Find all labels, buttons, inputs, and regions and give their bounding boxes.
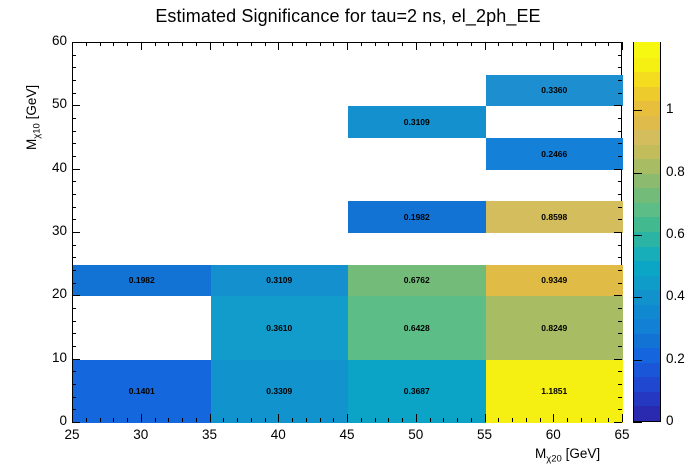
y-tick-minor xyxy=(72,219,76,220)
y-tick-minor xyxy=(72,270,76,271)
heatmap-cell: 0.3360 xyxy=(486,75,624,107)
x-tick-minor xyxy=(498,418,499,422)
x-tick-label: 25 xyxy=(52,428,92,442)
x-tick-minor xyxy=(581,42,582,46)
y-tick-minor xyxy=(618,93,622,94)
x-tick-minor xyxy=(388,418,389,422)
y-tick-minor xyxy=(72,245,76,246)
x-tick-major xyxy=(553,414,554,422)
y-tick-minor xyxy=(72,397,76,398)
colorbar-segment xyxy=(634,391,660,406)
heatmap-cell: 0.9349 xyxy=(486,265,624,297)
x-tick-minor xyxy=(333,42,334,46)
y-tick-minor xyxy=(72,321,76,322)
y-tick-minor xyxy=(618,219,622,220)
y-tick-minor xyxy=(72,409,76,410)
y-tick-minor xyxy=(618,409,622,410)
heatmap-cell: 0.3309 xyxy=(211,360,349,423)
y-tick-minor xyxy=(72,346,76,347)
y-tick-minor xyxy=(618,384,622,385)
y-tick-minor xyxy=(618,321,622,322)
y-tick-major xyxy=(614,359,622,360)
y-tick-minor xyxy=(72,207,76,208)
colorbar-tick-label: 0.4 xyxy=(666,289,685,303)
colorbar-tick xyxy=(633,110,642,111)
y-tick-minor xyxy=(618,333,622,334)
y-tick-major xyxy=(614,42,622,43)
colorbar-segment xyxy=(634,275,660,290)
y-tick-minor xyxy=(72,143,76,144)
x-tick-minor xyxy=(498,42,499,46)
x-tick-minor xyxy=(196,418,197,422)
colorbar-segment xyxy=(634,246,660,261)
x-tick-minor xyxy=(100,42,101,46)
colorbar-tick xyxy=(633,235,642,236)
y-tick-minor xyxy=(72,93,76,94)
y-tick-major xyxy=(72,42,80,43)
y-tick-major xyxy=(614,295,622,296)
x-tick-minor xyxy=(265,42,266,46)
x-tick-minor xyxy=(402,42,403,46)
x-tick-minor xyxy=(388,42,389,46)
heatmap-cell: 0.6762 xyxy=(348,265,486,297)
heatmap-cell: 0.6428 xyxy=(348,296,486,359)
x-tick-minor xyxy=(540,42,541,46)
heatmap-cell: 0.1982 xyxy=(348,201,486,233)
x-tick-minor xyxy=(251,42,252,46)
x-tick-major xyxy=(210,414,211,422)
x-tick-major xyxy=(416,42,417,50)
x-tick-label: 30 xyxy=(121,428,161,442)
x-tick-minor xyxy=(608,418,609,422)
y-tick-minor xyxy=(72,156,76,157)
x-tick-minor xyxy=(86,42,87,46)
y-tick-minor xyxy=(72,384,76,385)
x-tick-major xyxy=(347,42,348,50)
y-tick-minor xyxy=(72,131,76,132)
colorbar-tick-label: 0.2 xyxy=(666,352,685,366)
cell-value-label: 0.9349 xyxy=(541,275,567,285)
x-tick-major xyxy=(72,42,73,50)
x-tick-minor xyxy=(526,418,527,422)
colorbar-segment xyxy=(634,86,660,101)
y-tick-minor xyxy=(618,270,622,271)
x-tick-minor xyxy=(595,42,596,46)
y-tick-minor xyxy=(618,346,622,347)
x-tick-major xyxy=(210,42,211,50)
x-tick-minor xyxy=(113,418,114,422)
y-tick-minor xyxy=(72,118,76,119)
x-tick-minor xyxy=(567,418,568,422)
cell-value-label: 0.8249 xyxy=(541,323,567,333)
x-tick-minor xyxy=(540,418,541,422)
x-tick-minor xyxy=(251,418,252,422)
x-tick-label: 35 xyxy=(190,428,230,442)
x-tick-minor xyxy=(512,418,513,422)
colorbar-segment xyxy=(634,57,660,72)
colorbar-tick xyxy=(633,422,642,423)
y-tick-label: 40 xyxy=(52,161,67,175)
y-tick-minor xyxy=(72,181,76,182)
y-tick-minor xyxy=(618,156,622,157)
x-tick-major xyxy=(278,42,279,50)
y-tick-label: 20 xyxy=(52,287,67,301)
x-tick-minor xyxy=(375,42,376,46)
y-tick-major xyxy=(614,169,622,170)
y-tick-minor xyxy=(72,283,76,284)
x-tick-major xyxy=(485,414,486,422)
y-tick-minor xyxy=(618,245,622,246)
x-tick-minor xyxy=(430,42,431,46)
x-tick-minor xyxy=(375,418,376,422)
y-tick-major xyxy=(614,232,622,233)
x-tick-minor xyxy=(320,418,321,422)
x-tick-minor xyxy=(127,418,128,422)
colorbar-segment xyxy=(634,101,660,116)
x-tick-minor xyxy=(567,42,568,46)
cell-value-label: 0.6428 xyxy=(404,323,430,333)
y-tick-minor xyxy=(618,55,622,56)
y-tick-minor xyxy=(72,194,76,195)
y-tick-minor xyxy=(618,80,622,81)
heatmap-cell: 1.1851 xyxy=(486,360,624,423)
heatmap-cell: 0.3109 xyxy=(348,106,486,138)
x-tick-minor xyxy=(155,418,156,422)
x-tick-minor xyxy=(471,418,472,422)
colorbar-tick-label: 0.6 xyxy=(666,227,685,241)
colorbar-segment xyxy=(634,173,660,188)
x-tick-minor xyxy=(526,42,527,46)
chart-title: Estimated Significance for tau=2 ns, el_… xyxy=(0,6,696,27)
x-tick-major xyxy=(278,414,279,422)
cell-value-label: 0.1401 xyxy=(129,386,155,396)
plot-frame: 0.33600.31090.24660.19820.85980.19820.31… xyxy=(72,42,622,422)
x-tick-minor xyxy=(182,42,183,46)
colorbar-segment xyxy=(634,188,660,203)
heatmap-cell: 0.1982 xyxy=(73,265,211,297)
colorbar-segment xyxy=(634,377,660,392)
x-tick-major xyxy=(347,414,348,422)
x-tick-label: 45 xyxy=(327,428,367,442)
y-tick-minor xyxy=(618,371,622,372)
x-tick-minor xyxy=(457,42,458,46)
y-tick-minor xyxy=(618,131,622,132)
cell-value-label: 0.2466 xyxy=(541,149,567,159)
x-tick-minor xyxy=(471,42,472,46)
cell-value-label: 1.1851 xyxy=(541,386,567,396)
colorbar-segment xyxy=(634,406,660,421)
x-tick-minor xyxy=(168,42,169,46)
heatmap-cell: 0.3687 xyxy=(348,360,486,423)
colorbar-segment xyxy=(634,72,660,87)
x-tick-minor xyxy=(443,418,444,422)
heatmap-cell: 0.8598 xyxy=(486,201,624,233)
x-tick-minor xyxy=(292,42,293,46)
y-tick-major xyxy=(72,105,80,106)
heatmap-cell: 0.2466 xyxy=(486,138,624,170)
colorbar-segment xyxy=(634,319,660,334)
y-tick-label: 60 xyxy=(52,34,67,48)
x-tick-major xyxy=(622,42,623,50)
heatmap-cell: 0.8249 xyxy=(486,296,624,359)
colorbar-tick-label: 0.8 xyxy=(666,165,685,179)
y-tick-major xyxy=(614,422,622,423)
cell-value-label: 0.3309 xyxy=(266,386,292,396)
colorbar-segment xyxy=(634,261,660,276)
x-tick-minor xyxy=(581,418,582,422)
y-tick-minor xyxy=(618,308,622,309)
y-tick-major xyxy=(72,359,80,360)
cell-value-label: 0.1982 xyxy=(404,212,430,222)
colorbar-segment xyxy=(634,130,660,145)
y-tick-major xyxy=(72,232,80,233)
x-tick-minor xyxy=(361,418,362,422)
colorbar-segment xyxy=(634,202,660,217)
heatmap-cells: 0.33600.31090.24660.19820.85980.19820.31… xyxy=(73,43,621,421)
y-tick-minor xyxy=(618,118,622,119)
heatmap-cell: 0.3109 xyxy=(211,265,349,297)
x-tick-minor xyxy=(608,42,609,46)
x-tick-minor xyxy=(100,418,101,422)
x-tick-minor xyxy=(595,418,596,422)
x-tick-minor xyxy=(86,418,87,422)
colorbar-segment xyxy=(634,362,660,377)
x-tick-label: 65 xyxy=(602,428,642,442)
x-tick-major xyxy=(553,42,554,50)
cell-value-label: 0.3610 xyxy=(266,323,292,333)
x-tick-minor xyxy=(265,418,266,422)
x-tick-label: 60 xyxy=(533,428,573,442)
colorbar-tick xyxy=(633,297,642,298)
y-tick-major xyxy=(72,169,80,170)
x-tick-major xyxy=(485,42,486,50)
colorbar-tick xyxy=(633,360,642,361)
x-tick-minor xyxy=(361,42,362,46)
y-tick-label: 10 xyxy=(52,351,67,365)
y-tick-major xyxy=(72,295,80,296)
y-tick-minor xyxy=(72,308,76,309)
y-tick-minor xyxy=(618,143,622,144)
colorbar-tick-label: 0 xyxy=(666,414,674,428)
heatmap-cell: 0.1401 xyxy=(73,360,211,423)
x-tick-major xyxy=(72,414,73,422)
colorbar-segment xyxy=(634,42,660,57)
x-tick-minor xyxy=(306,418,307,422)
y-tick-major xyxy=(72,422,80,423)
x-tick-minor xyxy=(402,418,403,422)
x-tick-minor xyxy=(155,42,156,46)
y-tick-minor xyxy=(618,67,622,68)
y-axis-title: Mχ10 [GeV] xyxy=(24,85,43,150)
y-tick-major xyxy=(614,105,622,106)
y-tick-minor xyxy=(618,207,622,208)
cell-value-label: 0.1982 xyxy=(129,275,155,285)
y-tick-label: 0 xyxy=(59,414,67,428)
colorbar-tick-label: 1 xyxy=(666,102,674,116)
y-tick-minor xyxy=(72,333,76,334)
cell-value-label: 0.3360 xyxy=(541,85,567,95)
y-tick-minor xyxy=(72,371,76,372)
x-tick-minor xyxy=(168,418,169,422)
y-tick-minor xyxy=(618,181,622,182)
x-tick-minor xyxy=(113,42,114,46)
colorbar xyxy=(633,42,661,422)
y-tick-minor xyxy=(618,194,622,195)
x-tick-minor xyxy=(237,42,238,46)
x-tick-minor xyxy=(237,418,238,422)
colorbar-segment xyxy=(634,231,660,246)
x-tick-minor xyxy=(443,42,444,46)
y-tick-minor xyxy=(72,257,76,258)
x-tick-minor xyxy=(333,418,334,422)
colorbar-segment xyxy=(634,144,660,159)
x-tick-label: 40 xyxy=(258,428,298,442)
y-tick-minor xyxy=(618,283,622,284)
x-tick-minor xyxy=(182,418,183,422)
y-tick-minor xyxy=(72,67,76,68)
colorbar-segment xyxy=(634,333,660,348)
y-tick-label: 50 xyxy=(52,97,67,111)
y-tick-minor xyxy=(72,55,76,56)
heatmap-cell: 0.3610 xyxy=(211,296,349,359)
chart-root: Estimated Significance for tau=2 ns, el_… xyxy=(0,0,696,472)
x-tick-minor xyxy=(512,42,513,46)
x-tick-minor xyxy=(223,42,224,46)
x-tick-major xyxy=(416,414,417,422)
x-tick-minor xyxy=(430,418,431,422)
cell-value-label: 0.3109 xyxy=(266,275,292,285)
x-tick-minor xyxy=(292,418,293,422)
x-tick-minor xyxy=(320,42,321,46)
x-tick-major xyxy=(141,42,142,50)
cell-value-label: 0.3687 xyxy=(404,386,430,396)
x-tick-major xyxy=(622,414,623,422)
x-tick-label: 50 xyxy=(396,428,436,442)
x-tick-minor xyxy=(306,42,307,46)
colorbar-tick xyxy=(633,173,642,174)
x-axis-title: Mχ20 [GeV] xyxy=(535,446,600,465)
cell-value-label: 0.3109 xyxy=(404,117,430,127)
x-tick-major xyxy=(141,414,142,422)
x-tick-minor xyxy=(127,42,128,46)
y-tick-minor xyxy=(72,80,76,81)
x-tick-minor xyxy=(196,42,197,46)
colorbar-segment xyxy=(634,217,660,232)
colorbar-segment xyxy=(634,304,660,319)
cell-value-label: 0.8598 xyxy=(541,212,567,222)
x-tick-minor xyxy=(457,418,458,422)
x-tick-label: 55 xyxy=(465,428,505,442)
cell-value-label: 0.6762 xyxy=(404,275,430,285)
colorbar-segment xyxy=(634,159,660,174)
y-tick-label: 30 xyxy=(52,224,67,238)
y-tick-minor xyxy=(618,257,622,258)
colorbar-segment xyxy=(634,115,660,130)
y-tick-minor xyxy=(618,397,622,398)
x-tick-minor xyxy=(223,418,224,422)
